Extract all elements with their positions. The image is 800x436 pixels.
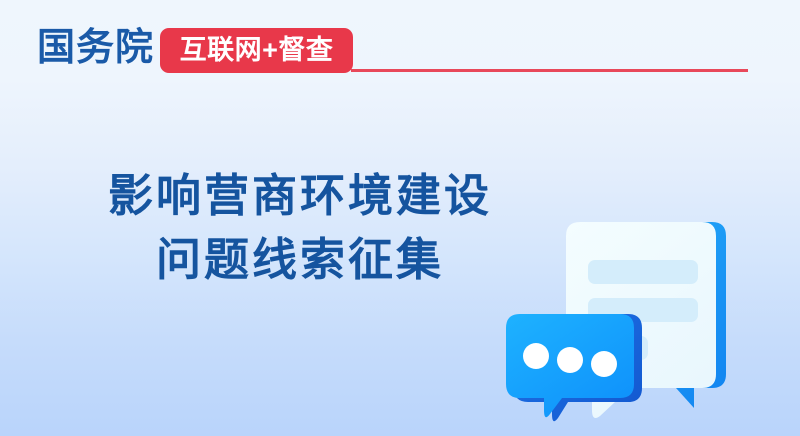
speech-bubbles-illustration <box>480 212 800 436</box>
typing-dot-2 <box>557 347 583 373</box>
campaign-banner: 国务院 互联网+督查 影响营商环境建设 问题线索征集 <box>0 0 800 436</box>
typing-dot-1 <box>523 343 549 369</box>
header-divider-rule <box>351 69 748 72</box>
message-bar-1 <box>588 260 698 284</box>
typing-dot-3 <box>591 351 617 377</box>
program-badge-label: 互联网+督查 <box>160 28 353 73</box>
organization-name: 国务院 <box>37 25 154 71</box>
banner-header: 国务院 互联网+督查 <box>0 0 800 96</box>
program-badge: 互联网+督查 <box>160 28 353 73</box>
